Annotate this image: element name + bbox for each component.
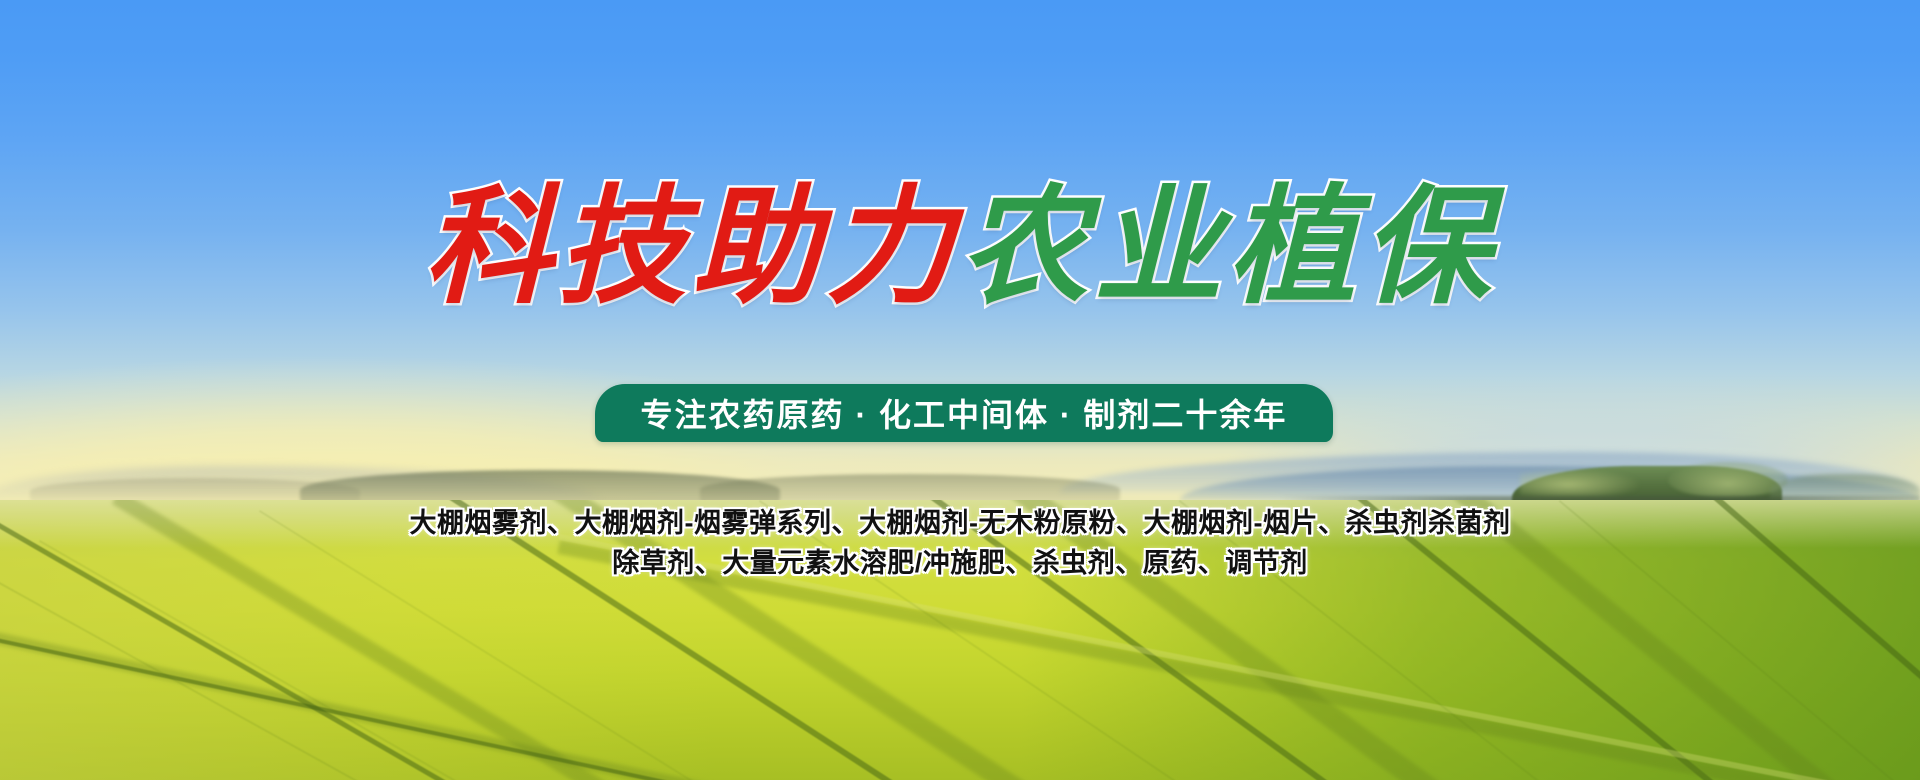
subtitle-badge: 专注农药原药 · 化工中间体 · 制剂二十余年	[595, 384, 1333, 442]
hero-banner: 科技助力农业植保 专注农药原药 · 化工中间体 · 制剂二十余年 大棚烟雾剂、大…	[0, 0, 1920, 780]
page-title: 科技助力农业植保	[0, 178, 1920, 316]
treeline-center-right	[700, 474, 1120, 502]
product-description: 大棚烟雾剂、大棚烟剂-烟雾弹系列、大棚烟剂-无木粉原粉、大棚烟剂-烟片、杀虫剂杀…	[0, 503, 1920, 583]
subtitle-text: 专注农药原药 · 化工中间体 · 制剂二十余年	[641, 390, 1288, 436]
description-line-2: 除草剂、大量元素水溶肥/冲施肥、杀虫剂、原药、调节剂	[0, 543, 1920, 583]
title-green-text: 农业植保	[960, 172, 1496, 322]
title-red-text: 科技助力	[424, 172, 960, 322]
tree-grove-highlight	[1520, 468, 1640, 498]
description-line-1: 大棚烟雾剂、大棚烟剂-烟雾弹系列、大棚烟剂-无木粉原粉、大棚烟剂-烟片、杀虫剂杀…	[0, 503, 1920, 543]
